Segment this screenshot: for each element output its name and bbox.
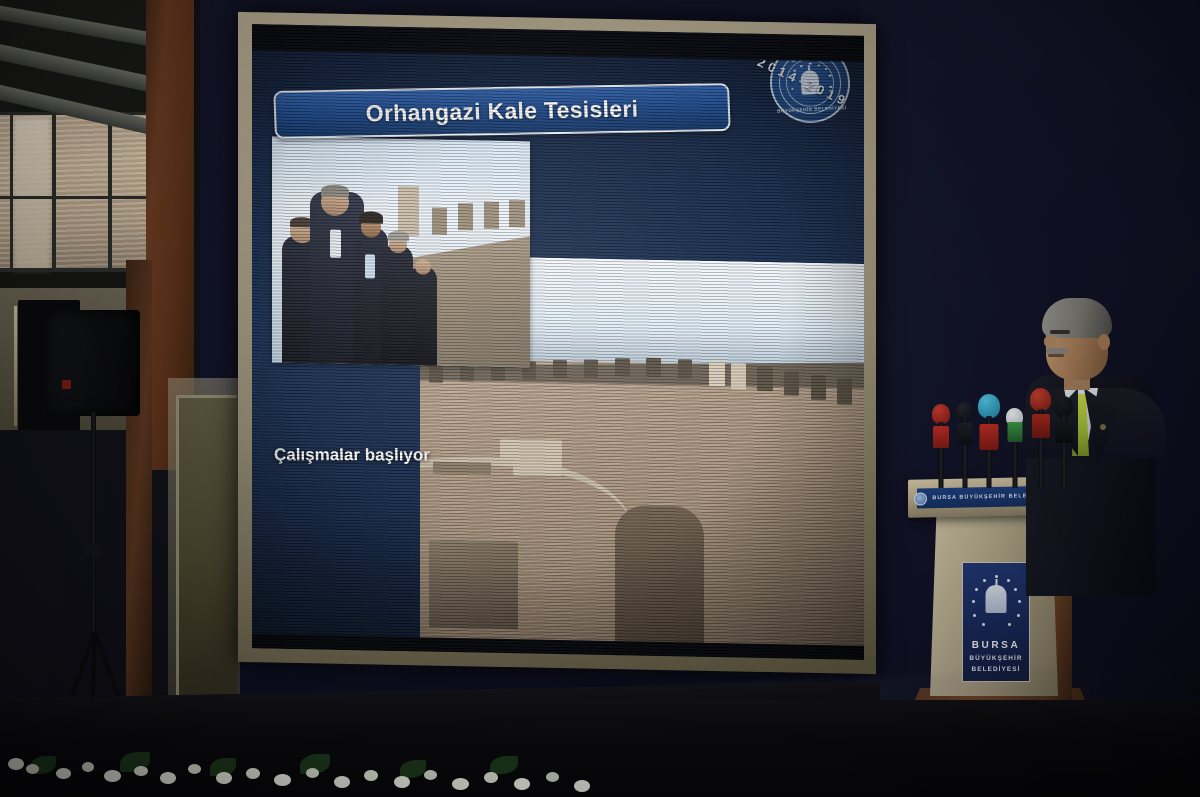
mic-flag: [933, 426, 949, 448]
photo-crenel-light: [731, 363, 746, 389]
mic-red-right: [1030, 388, 1051, 488]
photo-crenel: [429, 364, 443, 382]
photo-person-head: [415, 259, 431, 275]
screenshot-root: Orhangazi Kale Tesisleri BURSA BÜYÜKŞEHİ…: [0, 0, 1200, 797]
loudspeaker-logo-badge: [62, 380, 71, 389]
photo-people-group: [282, 191, 442, 366]
photo-person-hair: [359, 211, 383, 223]
photo-person-hair: [388, 231, 409, 242]
person-ear: [1098, 334, 1110, 350]
window-mullion: [52, 112, 56, 272]
projection-screen[interactable]: Orhangazi Kale Tesisleri BURSA BÜYÜKŞEHİ…: [252, 24, 864, 660]
mic-flag: [1032, 414, 1050, 438]
mic-dark-2: [1054, 396, 1073, 488]
photo-crenel: [615, 358, 629, 376]
ceiling-beam: [0, 4, 146, 49]
mic-green: [1006, 408, 1023, 488]
photo-person-shirt: [330, 230, 341, 258]
mic-flag: [957, 423, 972, 445]
photo-crenel: [458, 203, 473, 230]
mic-head: [1054, 396, 1073, 417]
photo-crenel-light: [709, 361, 725, 387]
wall-panel: [176, 395, 237, 698]
photo-person-hair: [321, 185, 350, 198]
presentation-slide: Orhangazi Kale Tesisleri BURSA BÜYÜKŞEHİ…: [252, 24, 864, 660]
window-mullion: [0, 268, 146, 272]
podium-panel-line1: BURSA: [963, 640, 1029, 651]
slide-title-bar: Orhangazi Kale Tesisleri: [273, 83, 730, 139]
photo-crenel: [784, 371, 799, 396]
mic-dark-1: [956, 402, 973, 488]
window-mullion: [10, 112, 13, 272]
loudspeaker-stand-pole: [91, 412, 96, 642]
door-light-slit: [14, 306, 17, 426]
photo-foreground-stone: [429, 541, 518, 630]
mic-head: [1030, 388, 1051, 411]
photo-crenel: [837, 378, 852, 404]
slide-title: Orhangazi Kale Tesisleri: [365, 95, 638, 127]
person-eyebrow: [1050, 330, 1070, 334]
window-highlight: [14, 118, 50, 270]
slide-photo-officials: [272, 137, 530, 368]
window-mullion: [0, 196, 146, 199]
mic-flag: [1007, 422, 1022, 442]
photo-crenel: [646, 358, 660, 377]
photo-crenel: [584, 359, 598, 377]
mic-flag: [980, 424, 999, 450]
photo-crenel: [509, 200, 524, 227]
loudspeaker-stand-knob: [85, 545, 101, 555]
loudspeaker-cabinet: [46, 310, 140, 416]
photo-crenel: [811, 375, 826, 401]
photo-crenel: [757, 367, 772, 391]
ceiling-beam: [0, 40, 146, 95]
mic-head: [932, 404, 950, 424]
podium-panel-line2: BÜYÜKŞEHİR: [963, 655, 1029, 662]
photo-crenel: [678, 359, 692, 379]
podium-stars: [969, 573, 1023, 635]
photo-crenel: [553, 360, 567, 378]
window-mullion: [108, 112, 112, 272]
mic-head: [978, 394, 1000, 418]
person-mouth: [1048, 354, 1064, 357]
mic-red-left: [932, 404, 950, 488]
slide-caption: Çalışmalar başlıyor: [274, 445, 574, 466]
mic-flag: [1055, 420, 1072, 443]
stage-flower-row: [0, 742, 640, 797]
photo-person-shirt: [365, 254, 375, 278]
plaque-seal-icon-left: [914, 492, 927, 505]
photo-shadowed-arch: [615, 505, 704, 657]
person-lapel-pin: [1100, 424, 1106, 430]
photo-crenel: [484, 202, 499, 229]
person-nose: [1044, 336, 1056, 348]
press-microphones: [918, 378, 1078, 488]
mic-cyan: [978, 394, 1000, 488]
photo-person: [409, 266, 438, 366]
